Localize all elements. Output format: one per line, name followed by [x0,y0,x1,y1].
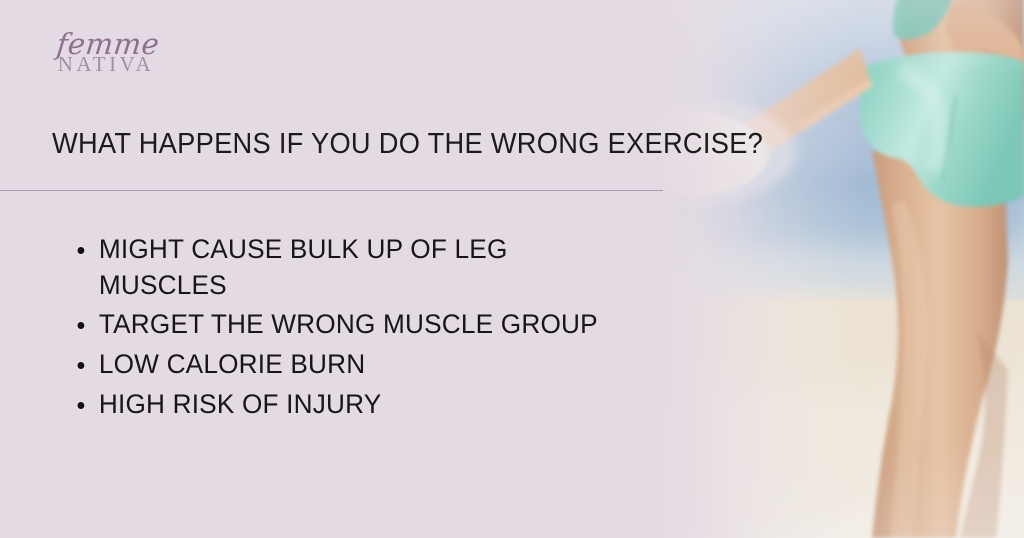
list-item: HIGH RISK OF INJURY [62,387,644,423]
infographic-slide: femme NATIVA WHAT HAPPENS IF YOU DO THE … [0,0,1024,538]
list-item: TARGET THE WRONG MUSCLE GROUP [62,307,644,343]
hero-photo-illustration [604,0,1024,538]
consequences-list: MIGHT CAUSE BULK UP OF LEG MUSCLES TARGE… [62,232,662,426]
list-item: MIGHT CAUSE BULK UP OF LEG MUSCLES [62,232,518,303]
brand-logo-script: femme [44,30,171,59]
brand-logo[interactable]: femme NATIVA [40,30,170,75]
title-divider [0,190,663,191]
page-title: WHAT HAPPENS IF YOU DO THE WRONG EXERCIS… [52,128,898,161]
list-item: LOW CALORIE BURN [62,347,644,383]
hero-photo [604,0,1024,538]
